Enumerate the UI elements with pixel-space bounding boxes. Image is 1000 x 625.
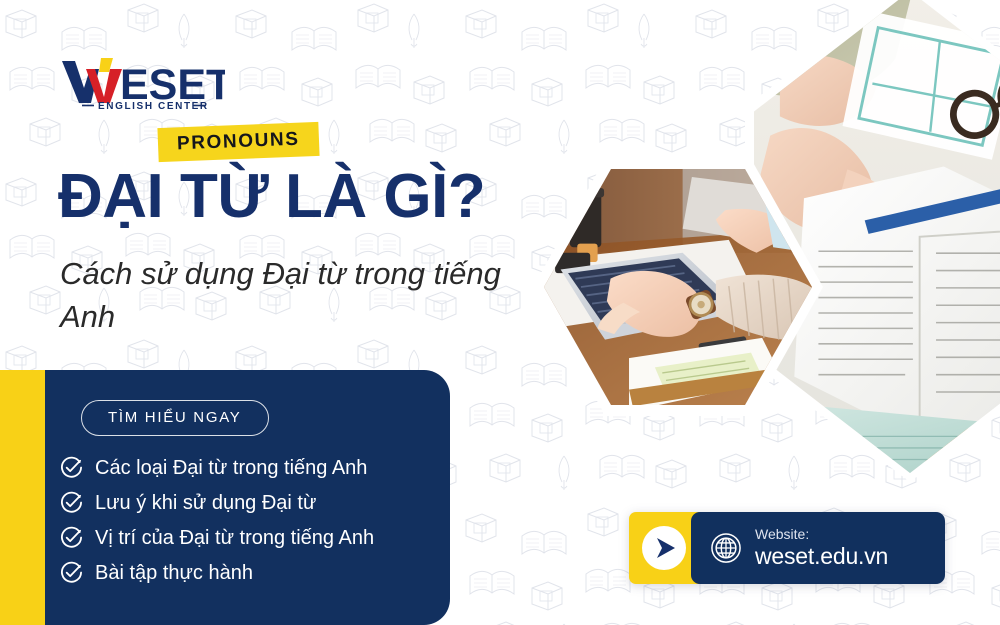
- pronouns-badge: PRONOUNS: [157, 122, 319, 162]
- page-title: ĐẠI TỪ LÀ GÌ?: [58, 166, 485, 228]
- website-badge[interactable]: Website: weset.edu.vn: [629, 512, 945, 584]
- play-arrow-icon: [641, 525, 687, 571]
- website-url[interactable]: weset.edu.vn: [755, 544, 888, 569]
- list-item-label: Vị trí của Đại từ trong tiếng Anh: [95, 528, 374, 548]
- check-circle-icon: [60, 561, 83, 584]
- feature-list: Các loại Đại từ trong tiếng Anh Lưu ý kh…: [60, 452, 460, 592]
- promo-banner: ESET ENGLISH CENTER PRONOUNS ĐẠI TỪ LÀ G…: [0, 0, 1000, 625]
- cta-button[interactable]: TÌM HIỂU NGAY: [81, 400, 269, 436]
- list-item-label: Lưu ý khi sử dụng Đại từ: [95, 493, 316, 513]
- list-item: Các loại Đại từ trong tiếng Anh: [60, 452, 460, 483]
- website-label: Website:: [755, 526, 888, 542]
- check-circle-icon: [60, 491, 83, 514]
- list-item-label: Bài tập thực hành: [95, 563, 253, 583]
- list-item: Lưu ý khi sử dụng Đại từ: [60, 487, 460, 518]
- yellow-accent-bar: [0, 370, 45, 625]
- website-info[interactable]: Website: weset.edu.vn: [691, 512, 945, 584]
- check-circle-icon: [60, 526, 83, 549]
- page-subtitle: Cách sử dụng Đại từ trong tiếng Anh: [60, 253, 540, 339]
- hexagon-photo-small-image: [544, 169, 812, 405]
- play-button[interactable]: [629, 512, 699, 584]
- weset-logo[interactable]: ESET ENGLISH CENTER: [60, 55, 225, 110]
- globe-icon: [711, 533, 741, 563]
- list-item-label: Các loại Đại từ trong tiếng Anh: [95, 458, 367, 478]
- check-circle-icon: [60, 456, 83, 479]
- list-item: Vị trí của Đại từ trong tiếng Anh: [60, 522, 460, 553]
- list-item: Bài tập thực hành: [60, 557, 460, 588]
- svg-text:ENGLISH CENTER: ENGLISH CENTER: [98, 101, 209, 110]
